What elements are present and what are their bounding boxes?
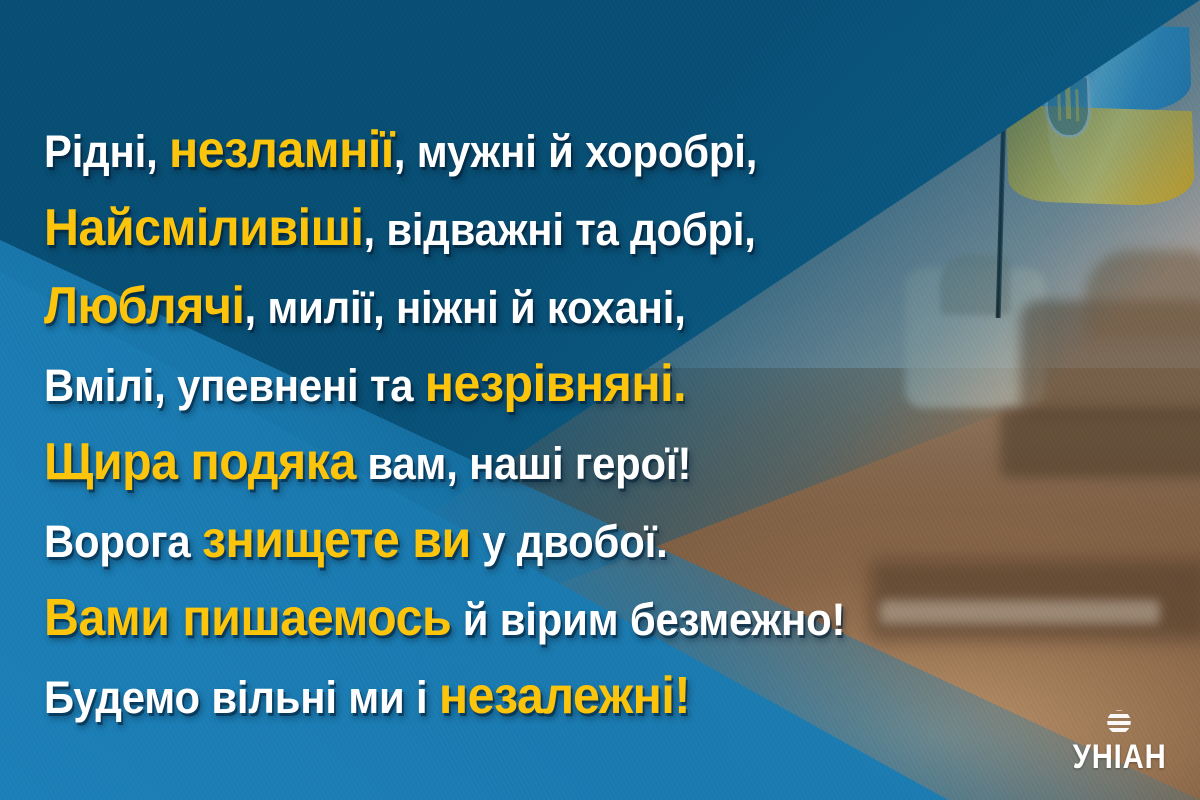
striped-circle-mark-icon [1106, 707, 1132, 733]
verse-plain-text: Рідні, [44, 126, 169, 177]
verse-plain-text: , відважні та добрі, [363, 204, 755, 255]
verse-highlight-text: Люблячі [44, 277, 244, 335]
verse-highlight-text: Вами пишаемось [44, 589, 451, 647]
verse-block: Рідні, незламнії, мужні й хоробрі,Найсмі… [44, 112, 974, 736]
verse-plain-text: , милії, ніжні й кохані, [244, 282, 685, 333]
poster-canvas: Рідні, незламнії, мужні й хоробрі,Найсмі… [0, 0, 1200, 800]
verse-highlight-text: незрівняні. [425, 355, 686, 413]
verse-line-6: Ворога знищете ви у двобої. [44, 502, 909, 580]
verse-line-4: Вмілі, упевнені та незрівняні. [44, 346, 909, 424]
verse-line-2: Найсміливіші, відважні та добрі, [44, 190, 909, 268]
verse-plain-text: Ворога [44, 516, 202, 567]
verse-highlight-text: Найсміливіші [44, 199, 363, 257]
verse-plain-text: й вірим безмежно! [451, 594, 845, 645]
verse-plain-text: , мужні й хоробрі, [394, 126, 757, 177]
verse-plain-text: Будемо вільні ми і [44, 672, 439, 723]
unian-logo[interactable]: УНІАН [1065, 707, 1174, 774]
verse-line-7: Вами пишаемось й вірим безмежно! [44, 580, 909, 658]
verse-plain-text: вам, наші герої! [356, 438, 691, 489]
verse-line-8: Будемо вільні ми і незалежні! [44, 658, 909, 736]
verse-plain-text: Вмілі, упевнені та [44, 360, 425, 411]
verse-plain-text: у двобої. [471, 516, 668, 567]
verse-line-5: Щира подяка вам, наші герої! [44, 424, 909, 502]
unian-logo-text: УНІАН [1072, 740, 1166, 774]
verse-line-1: Рідні, незламнії, мужні й хоробрі, [44, 112, 909, 190]
verse-highlight-text: Щира подяка [44, 433, 356, 491]
verse-line-3: Люблячі, милії, ніжні й кохані, [44, 268, 909, 346]
verse-highlight-text: незалежні! [439, 667, 690, 725]
verse-highlight-text: знищете ви [202, 511, 471, 569]
verse-highlight-text: незламнії [169, 121, 394, 179]
